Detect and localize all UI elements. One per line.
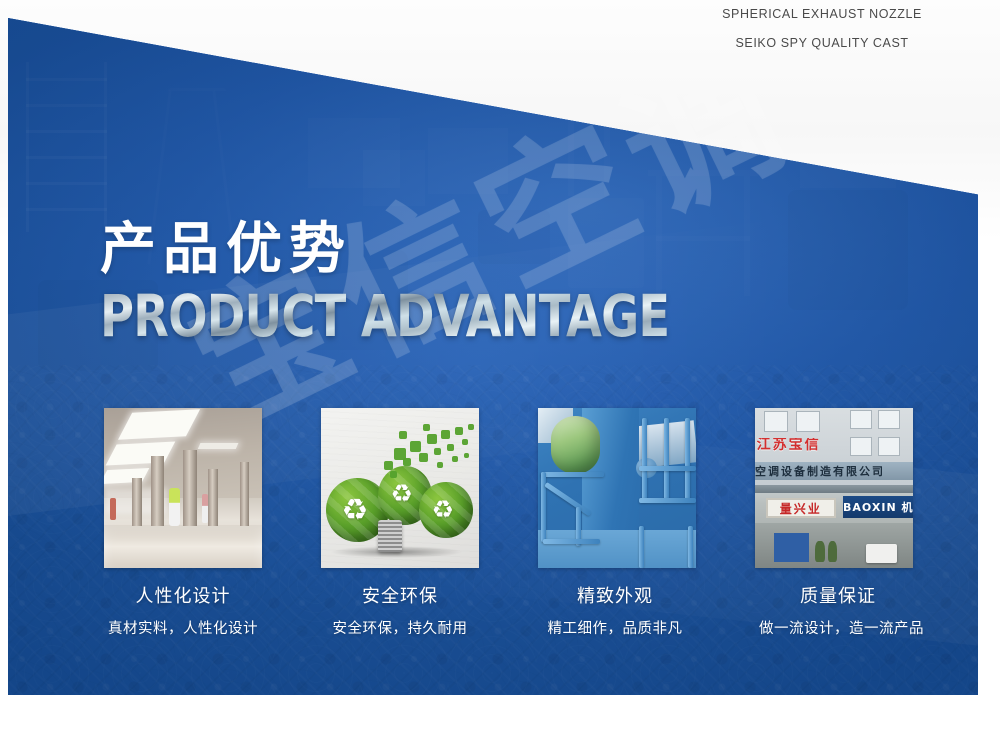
- page-title-cn: 产品优势: [100, 218, 812, 282]
- advantage-card-title: 精致外观: [536, 582, 694, 608]
- advantage-card[interactable]: ♻ ♻ ♻ 安全环保 安全环保，持久耐用: [321, 408, 479, 638]
- recycle-icon: ♻: [432, 498, 454, 523]
- product-advantage-banner: SPHERICAL EXHAUST NOZZLE SEIKO SPY QUALI…: [0, 0, 1000, 735]
- tagline-block: SPHERICAL EXHAUST NOZZLE SEIKO SPY QUALI…: [722, 0, 922, 58]
- blue-machinery-photo: [538, 408, 696, 568]
- shop-sign-right-text: BAOXIN 机: [843, 499, 913, 515]
- advantage-card-desc: 真材实料，人性化设计: [104, 617, 262, 638]
- page-title: 产品优势 PRODUCT ADVANTAGE: [100, 218, 812, 346]
- recycle-icon: ♻: [391, 482, 413, 507]
- tagline-primary: SPHERICAL EXHAUST NOZZLE: [722, 0, 922, 29]
- advantage-card-title: 质量保证: [759, 582, 917, 608]
- advantage-card-desc: 做一流设计，造一流产品: [759, 617, 917, 638]
- building-sign-band: 空调设备制造有限公司: [755, 462, 913, 480]
- bottom-white-margin: [0, 695, 1000, 735]
- advantage-card[interactable]: 精致外观 精工细作，品质非凡: [538, 408, 696, 638]
- advantage-card[interactable]: 人性化设计 真材实料，人性化设计: [104, 408, 262, 638]
- advantage-card-title: 人性化设计: [104, 582, 262, 608]
- page-title-en: PRODUCT ADVANTAGE: [100, 286, 669, 346]
- bulb-screw-cap: [378, 520, 402, 552]
- factory-building-photo: 江苏宝信 空调设备制造有限公司 量兴业 BAOXIN 机: [755, 408, 913, 568]
- eco-bulbs-photo: ♻ ♻ ♻: [321, 408, 479, 568]
- shop-sign-left: 量兴业: [766, 498, 836, 519]
- advantage-card[interactable]: 江苏宝信 空调设备制造有限公司 量兴业 BAOXIN 机 质量保证 做一流设计，…: [755, 408, 913, 638]
- mall-interior-photo: [104, 408, 262, 568]
- building-sign-red: 江苏宝信: [757, 438, 845, 457]
- advantage-card-list: 人性化设计 真材实料，人性化设计: [0, 408, 1000, 638]
- shop-sign-right: BAOXIN 机: [843, 496, 913, 518]
- advantage-card-desc: 精工细作，品质非凡: [536, 617, 694, 638]
- recycle-icon: ♻: [342, 496, 369, 526]
- advantage-card-title: 安全环保: [321, 582, 479, 608]
- tagline-secondary: SEIKO SPY QUALITY CAST: [722, 29, 922, 58]
- advantage-card-desc: 安全环保，持久耐用: [321, 617, 479, 638]
